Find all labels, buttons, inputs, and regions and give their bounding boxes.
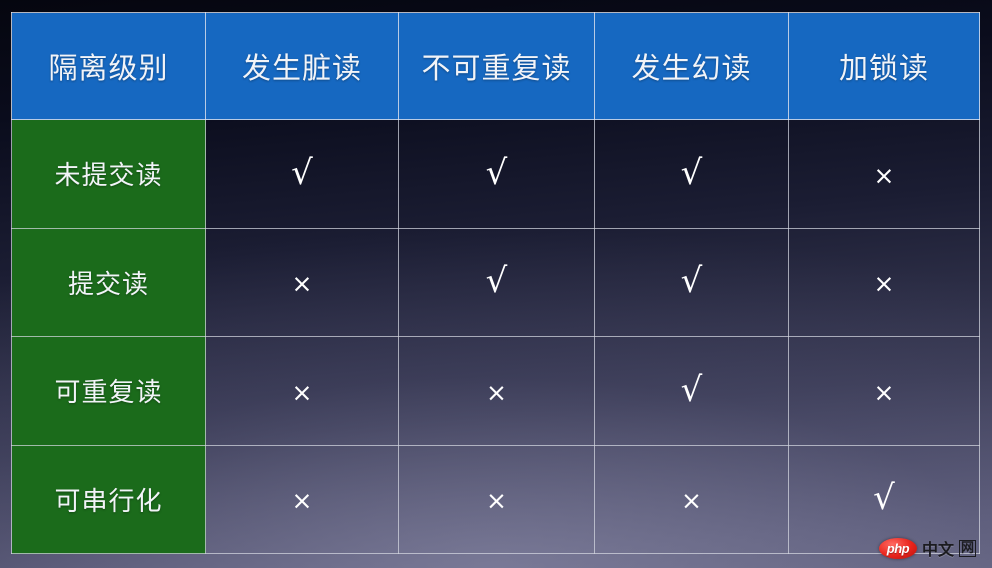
- check-icon: √: [486, 156, 508, 190]
- cell-read-committed-non-repeatable-read: √: [399, 228, 595, 337]
- php-logo-icon: php: [879, 538, 917, 559]
- php-logo-label: php: [887, 541, 909, 556]
- cross-icon: ×: [486, 488, 507, 513]
- cell-read-uncommitted-locking-read: ×: [789, 120, 980, 229]
- cross-icon: ×: [874, 271, 895, 296]
- check-icon: √: [873, 481, 895, 515]
- row-header-repeatable-read: 可重复读: [12, 337, 206, 446]
- column-header-isolation-level: 隔离级别: [12, 13, 206, 120]
- column-header-non-repeatable-read: 不可重复读: [399, 13, 595, 120]
- cell-serializable-phantom-read: ×: [595, 445, 789, 554]
- watermark: php 中文 网: [879, 537, 976, 559]
- isolation-level-table: 隔离级别 发生脏读 不可重复读 发生幻读 加锁读 未提交读 √ √ √ × 提交…: [11, 12, 980, 554]
- check-icon: √: [291, 156, 313, 190]
- cell-repeatable-read-non-repeatable-read: ×: [399, 337, 595, 446]
- cross-icon: ×: [681, 488, 702, 513]
- check-icon: √: [681, 264, 703, 298]
- cross-icon: ×: [292, 380, 313, 405]
- check-icon: √: [681, 373, 703, 407]
- table-row: 可串行化 × × × √: [12, 445, 980, 554]
- cell-read-uncommitted-non-repeatable-read: √: [399, 120, 595, 229]
- cell-read-uncommitted-phantom-read: √: [595, 120, 789, 229]
- cell-read-committed-phantom-read: √: [595, 228, 789, 337]
- cross-icon: ×: [874, 163, 895, 188]
- cell-read-committed-dirty-read: ×: [206, 228, 399, 337]
- cell-serializable-non-repeatable-read: ×: [399, 445, 595, 554]
- cross-icon: ×: [486, 380, 507, 405]
- slide-canvas: 隔离级别 发生脏读 不可重复读 发生幻读 加锁读 未提交读 √ √ √ × 提交…: [0, 0, 992, 568]
- watermark-boxed-text: 网: [959, 540, 976, 557]
- check-icon: √: [486, 264, 508, 298]
- cross-icon: ×: [292, 488, 313, 513]
- column-header-dirty-read: 发生脏读: [206, 13, 399, 120]
- cell-read-committed-locking-read: ×: [789, 228, 980, 337]
- cell-repeatable-read-dirty-read: ×: [206, 337, 399, 446]
- table-row: 未提交读 √ √ √ ×: [12, 120, 980, 229]
- cell-read-uncommitted-dirty-read: √: [206, 120, 399, 229]
- cross-icon: ×: [874, 380, 895, 405]
- row-header-read-committed: 提交读: [12, 228, 206, 337]
- cross-icon: ×: [292, 271, 313, 296]
- table-row: 可重复读 × × √ ×: [12, 337, 980, 446]
- table-header-row: 隔离级别 发生脏读 不可重复读 发生幻读 加锁读: [12, 13, 980, 120]
- cell-repeatable-read-phantom-read: √: [595, 337, 789, 446]
- cell-repeatable-read-locking-read: ×: [789, 337, 980, 446]
- table-row: 提交读 × √ √ ×: [12, 228, 980, 337]
- cell-serializable-dirty-read: ×: [206, 445, 399, 554]
- column-header-locking-read: 加锁读: [789, 13, 980, 120]
- row-header-serializable: 可串行化: [12, 445, 206, 554]
- column-header-phantom-read: 发生幻读: [595, 13, 789, 120]
- check-icon: √: [681, 156, 703, 190]
- watermark-text: 中文: [922, 536, 954, 560]
- row-header-read-uncommitted: 未提交读: [12, 120, 206, 229]
